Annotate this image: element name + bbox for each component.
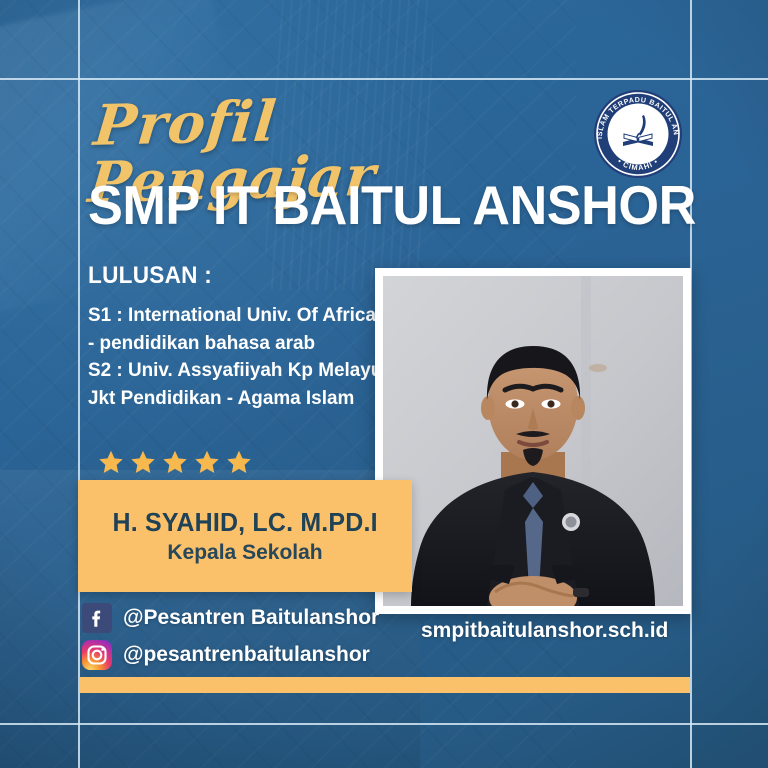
person-role: Kepala Sekolah: [167, 541, 322, 565]
facebook-handle[interactable]: @Pesantren Baitulanshor: [123, 606, 379, 630]
instagram-icon[interactable]: [82, 640, 112, 670]
star-icon: [130, 449, 156, 475]
education-line: S2 : Univ. Assyafiiyah Kp Melayu: [88, 357, 398, 385]
rating-stars: [98, 449, 252, 475]
education-line: S1 : International Univ. Of Africa: [88, 302, 398, 330]
education-line: Jkt Pendidikan - Agama Islam: [88, 385, 398, 413]
star-icon: [162, 449, 188, 475]
frame-line-top: [0, 78, 768, 80]
education-heading: LULUSAN :: [88, 262, 212, 290]
website-url[interactable]: smpitbaitulanshor.sch.id: [421, 619, 668, 643]
education-lines: S1 : International Univ. Of Africa - pen…: [88, 302, 398, 413]
frame-line-bottom: [0, 723, 768, 725]
facebook-row[interactable]: @Pesantren Baitulanshor: [82, 603, 379, 633]
page-title: SMP IT BAITUL ANSHOR: [88, 178, 677, 233]
school-logo: SMP ISLAM TERPADU BAITUL ANSHOR • CIMAHI…: [588, 88, 688, 180]
person-name-banner: H. SYAHID, LC. M.PD.I Kepala Sekolah: [78, 480, 412, 592]
facebook-icon[interactable]: [82, 603, 112, 633]
instagram-row[interactable]: @pesantrenbaitulanshor: [82, 640, 370, 670]
portrait-photo: [383, 276, 683, 606]
person-name: H. SYAHID, LC. M.PD.I: [112, 507, 377, 538]
star-icon: [194, 449, 220, 475]
profile-poster: Profil Pengajar SMP IT BAITUL ANSHOR: [0, 0, 768, 768]
bottom-accent-bar: [80, 677, 690, 693]
star-icon: [226, 449, 252, 475]
education-line: - pendidikan bahasa arab: [88, 330, 398, 358]
instagram-handle[interactable]: @pesantrenbaitulanshor: [123, 643, 370, 667]
frame-line-left: [78, 0, 80, 768]
portrait-photo-frame: [375, 268, 691, 614]
star-icon: [98, 449, 124, 475]
